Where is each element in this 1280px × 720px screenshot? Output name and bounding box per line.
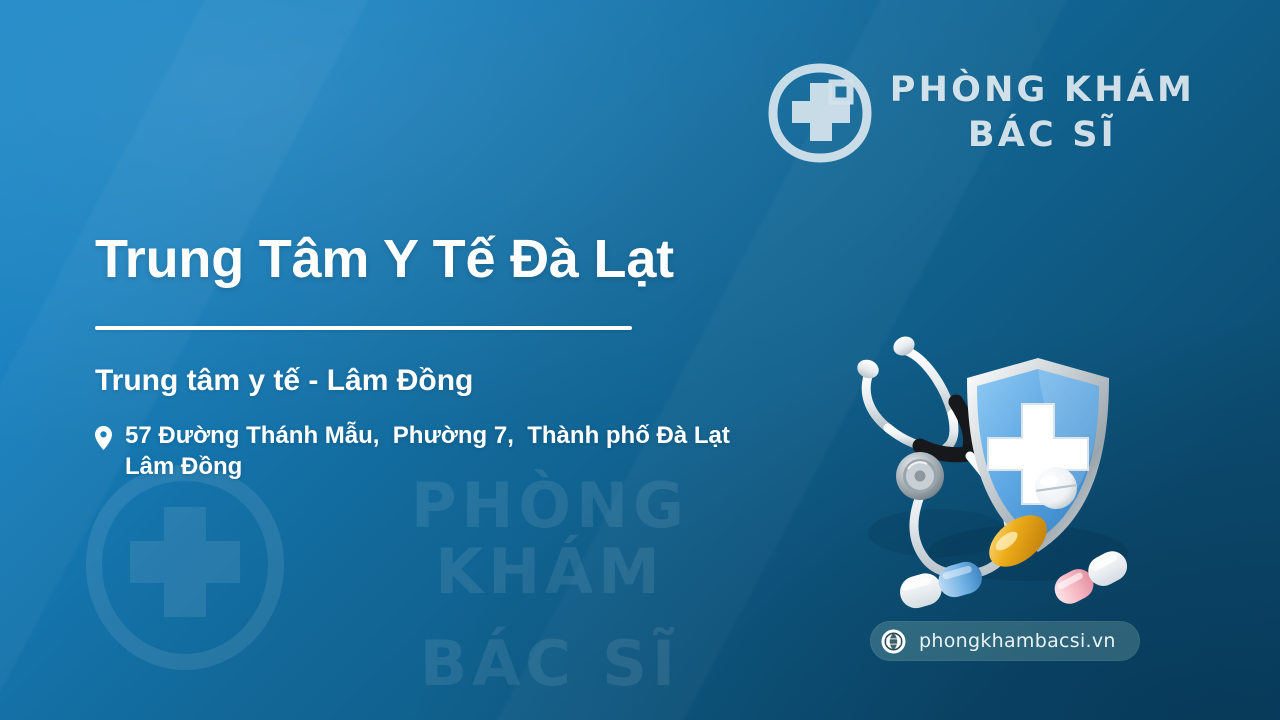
- brand-watermark: PHÒNG KHÁM BÁC SĨ: [80, 455, 800, 695]
- title-divider: [95, 326, 632, 330]
- brand-logo: PHÒNG KHÁM BÁC SĨ: [768, 58, 1195, 168]
- location-pin-icon: [95, 426, 112, 450]
- clinic-info-card: PHÒNG KHÁM BÁC SĨ PHÒNG KHÁM BÁC SĨ Trun…: [0, 0, 1280, 720]
- medical-shield-stethoscope-pills-illustration: [828, 328, 1178, 623]
- logo-line-2: BÁC SĨ: [890, 114, 1195, 156]
- logo-line-1: PHÒNG KHÁM: [890, 70, 1195, 110]
- medical-cross-circle-icon: [768, 63, 872, 163]
- clinic-subtitle: Trung tâm y tế - Lâm Đồng: [95, 362, 815, 400]
- page-title: Trung Tâm Y Tế Đà Lạt: [95, 228, 815, 290]
- medical-cross-circle-watermark-icon: [80, 465, 290, 670]
- website-badge[interactable]: phongkhambacsi.vn: [870, 621, 1140, 661]
- address-row: 57 Đường Thánh Mẫu, Phường 7, Thành phố …: [95, 420, 815, 482]
- website-url: phongkhambacsi.vn: [919, 631, 1116, 651]
- clinic-address: 57 Đường Thánh Mẫu, Phường 7, Thành phố …: [125, 420, 730, 482]
- watermark-line-2: BÁC SĨ: [315, 629, 785, 699]
- content-block: Trung Tâm Y Tế Đà Lạt Trung tâm y tế - L…: [95, 228, 815, 482]
- watermark-line-1: PHÒNG KHÁM: [315, 473, 785, 605]
- globe-icon: [881, 629, 906, 654]
